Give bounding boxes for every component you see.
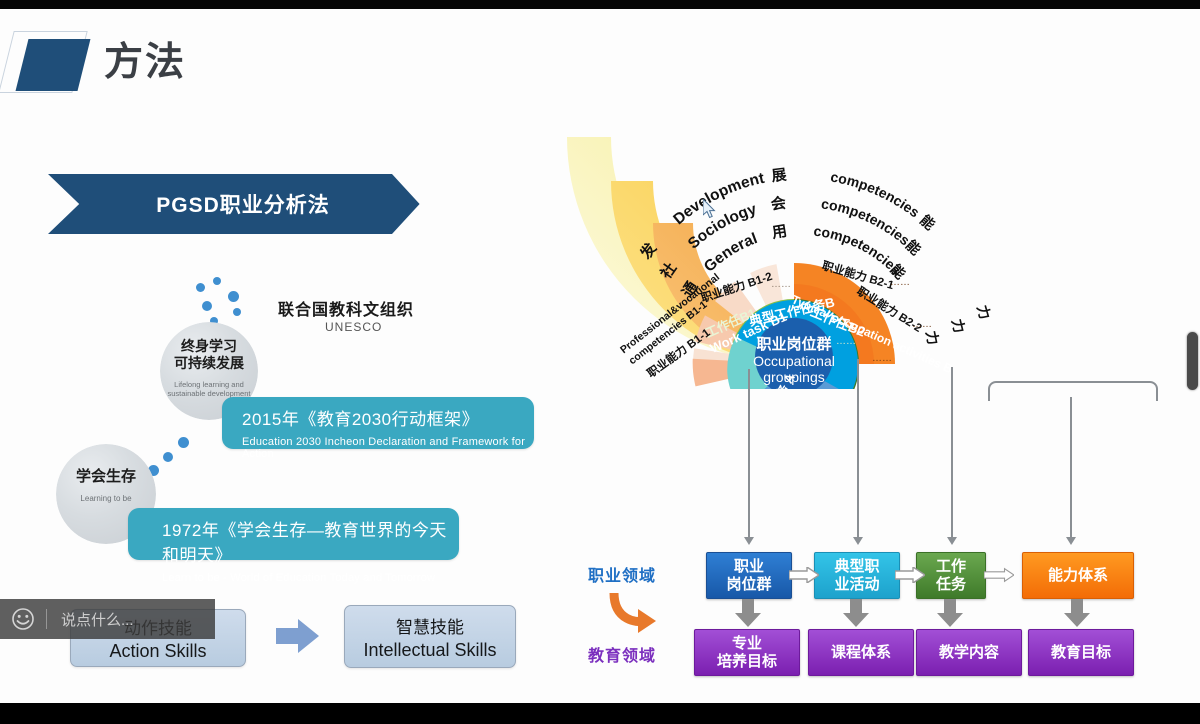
pgsd-banner: PGSD职业分析法 bbox=[48, 174, 438, 234]
flow-box-line1: 职业 bbox=[726, 558, 771, 575]
unesco-name-en: UNESCO bbox=[325, 320, 382, 334]
card-learning-to-be-1972: 1972年《学会生存—教育世界的今天和明天》 Learn to be - Wor… bbox=[128, 508, 459, 560]
fan-label-gen-tail-cn2: 力 bbox=[923, 329, 941, 346]
fan-band-cell-6: …… bbox=[912, 319, 932, 330]
flow-arrow-right-1 bbox=[789, 567, 819, 583]
circle-title-cn-line1: 学会生存 bbox=[56, 468, 156, 486]
deco-dot bbox=[202, 301, 212, 311]
card-title-en: Education 2030 Incheon Declaration and F… bbox=[242, 436, 534, 460]
flow-box-occupational-groups: 职业 岗位群 bbox=[706, 552, 792, 599]
flow-box-education-goal: 教育目标 bbox=[1028, 629, 1134, 676]
flow-arrow-down-1 bbox=[735, 599, 761, 627]
pgsd-banner-label: PGSD职业分析法 bbox=[156, 189, 330, 219]
fan-band-cell-2: …… bbox=[771, 279, 791, 290]
flow-box-line1: 典型职 bbox=[834, 558, 879, 575]
circle-title-cn: 学会生存 bbox=[56, 468, 156, 486]
unesco-name-cn: 联合国教科文组织 bbox=[278, 296, 414, 320]
letterbox-bottom bbox=[0, 703, 1200, 724]
flow-box-line2: 任务 bbox=[936, 576, 966, 593]
fan-label-soc-cn-right: 会 bbox=[770, 194, 787, 214]
card-title-cn: 2015年《教育2030行动框架》 bbox=[242, 405, 534, 430]
connector-line-4 bbox=[1070, 397, 1072, 537]
fan-center-en-2: groupings bbox=[763, 369, 825, 385]
deco-dot bbox=[163, 452, 173, 462]
flow-box-major-training-goal: 专业 培养目标 bbox=[694, 629, 800, 676]
screen-root: 方法 PGSD职业分析法 联合国教科文组织 UNESCO 终身学习 可持续发展 … bbox=[0, 0, 1200, 724]
flow-label-occupation-domain: 职业领域 bbox=[588, 562, 656, 586]
connector-line-1 bbox=[748, 369, 750, 537]
fan-dots-orange: …… bbox=[872, 353, 892, 364]
mouse-cursor-icon bbox=[703, 199, 719, 219]
fan-label-dev-tail-cn1: 能 bbox=[917, 212, 938, 233]
deco-dot bbox=[233, 308, 241, 316]
chat-input-placeholder[interactable]: 说点什么... bbox=[61, 609, 134, 630]
flow-box-line2: 培养目标 bbox=[717, 653, 777, 670]
deco-dot bbox=[228, 291, 239, 302]
fan-center-cn: 职业岗位群 bbox=[756, 335, 831, 353]
card-education-2030: 2015年《教育2030行动框架》 Education 2030 Incheon… bbox=[222, 397, 534, 449]
connector-line-2 bbox=[857, 359, 859, 537]
circle-title-en-line1: Lifelong learning and bbox=[160, 380, 258, 389]
deco-dot bbox=[178, 437, 189, 448]
flow-arrow-down-4 bbox=[1064, 599, 1090, 627]
fan-label-gen-cn-right: 用 bbox=[771, 223, 789, 242]
emoji-icon[interactable] bbox=[0, 608, 46, 630]
circle-title-cn: 终身学习 可持续发展 bbox=[160, 338, 258, 371]
connector-arrow-3 bbox=[947, 537, 957, 545]
card-title-cn: 1972年《学会生存—教育世界的今天和明天》 bbox=[162, 516, 459, 566]
intellectual-skills-en: Intellectual Skills bbox=[363, 640, 496, 661]
svg-text:力: 力 bbox=[949, 317, 968, 334]
connector-arrow-4 bbox=[1066, 537, 1076, 545]
curved-arrow-icon bbox=[604, 587, 660, 639]
logo bbox=[6, 31, 98, 99]
circle-title-en-line1: Learning to be bbox=[56, 494, 156, 504]
fan-center-en-1: Occupational bbox=[753, 353, 835, 369]
svg-text:力: 力 bbox=[923, 329, 941, 346]
connector-bracket bbox=[988, 381, 1158, 401]
flow-box-line1: 能力体系 bbox=[1048, 567, 1108, 584]
intellectual-skills-cn: 智慧技能 bbox=[396, 613, 464, 638]
logo-fill-shape bbox=[16, 39, 91, 91]
flow-arrow-down-2 bbox=[843, 599, 869, 627]
intellectual-skills-box: 智慧技能 Intellectual Skills bbox=[344, 605, 516, 668]
page-title: 方法 bbox=[104, 31, 186, 87]
connector-arrow-1 bbox=[744, 537, 754, 545]
chat-divider bbox=[46, 609, 47, 629]
right-arrow-icon bbox=[276, 617, 320, 655]
svg-text:会: 会 bbox=[770, 194, 787, 214]
flow-arrow-down-3 bbox=[937, 599, 963, 627]
flow-arrow-right-3 bbox=[984, 567, 1014, 583]
vertical-scrollbar-thumb[interactable] bbox=[1187, 332, 1198, 390]
flow-box-line1: 教学内容 bbox=[939, 644, 999, 661]
fan-label-dev-tail-cn2: 力 bbox=[974, 303, 993, 321]
flow-box-line1: 专业 bbox=[717, 635, 777, 652]
fan-diagram: 发 Development 展 competencies 能 力 社 Socio… bbox=[566, 9, 1200, 389]
flow-box-curriculum-system: 课程体系 bbox=[808, 629, 914, 676]
flow-box-work-task: 工作 任务 bbox=[916, 552, 986, 599]
deco-dot bbox=[213, 277, 221, 285]
svg-text:用: 用 bbox=[771, 223, 789, 242]
connector-line-3 bbox=[951, 367, 953, 537]
circle-title-cn-line2: 可持续发展 bbox=[160, 355, 258, 372]
flow-arrow-right-2 bbox=[895, 567, 925, 583]
svg-text:能: 能 bbox=[917, 212, 938, 233]
flow-box-line2: 业活动 bbox=[834, 576, 879, 593]
letterbox-top bbox=[0, 0, 1200, 9]
svg-text:展: 展 bbox=[771, 166, 788, 185]
card-title-en: Learn to be - World of Education Today a… bbox=[162, 572, 459, 584]
deco-dot bbox=[196, 283, 205, 292]
flow-label-education-domain: 教育领域 bbox=[588, 642, 656, 666]
flow-box-line1: 工作 bbox=[936, 558, 966, 575]
fan-band-cell-5: …… bbox=[890, 277, 910, 288]
flow-box-competency-system: 能力体系 bbox=[1022, 552, 1134, 599]
connector-arrow-2 bbox=[853, 537, 863, 545]
chat-input-bar[interactable]: 说点什么... bbox=[0, 599, 215, 639]
flow-box-line2: 岗位群 bbox=[726, 576, 771, 593]
flow-box-line1: 课程体系 bbox=[831, 644, 891, 661]
flow-box-teaching-content: 教学内容 bbox=[916, 629, 1022, 676]
fan-label-dev-cn-right: 展 bbox=[771, 166, 788, 185]
circle-title-en: Learning to be bbox=[56, 494, 156, 504]
circle-title-en: Lifelong learning and sustainable develo… bbox=[160, 380, 258, 398]
circle-title-cn-line1: 终身学习 bbox=[160, 338, 258, 355]
svg-text:力: 力 bbox=[974, 303, 993, 321]
fan-label-soc-tail-cn2: 力 bbox=[949, 317, 968, 334]
action-skills-en: Action Skills bbox=[109, 641, 206, 662]
fan-dots-green: …… bbox=[836, 336, 856, 347]
flow-box-typical-activities: 典型职 业活动 bbox=[814, 552, 900, 599]
flow-box-line1: 教育目标 bbox=[1051, 644, 1111, 661]
